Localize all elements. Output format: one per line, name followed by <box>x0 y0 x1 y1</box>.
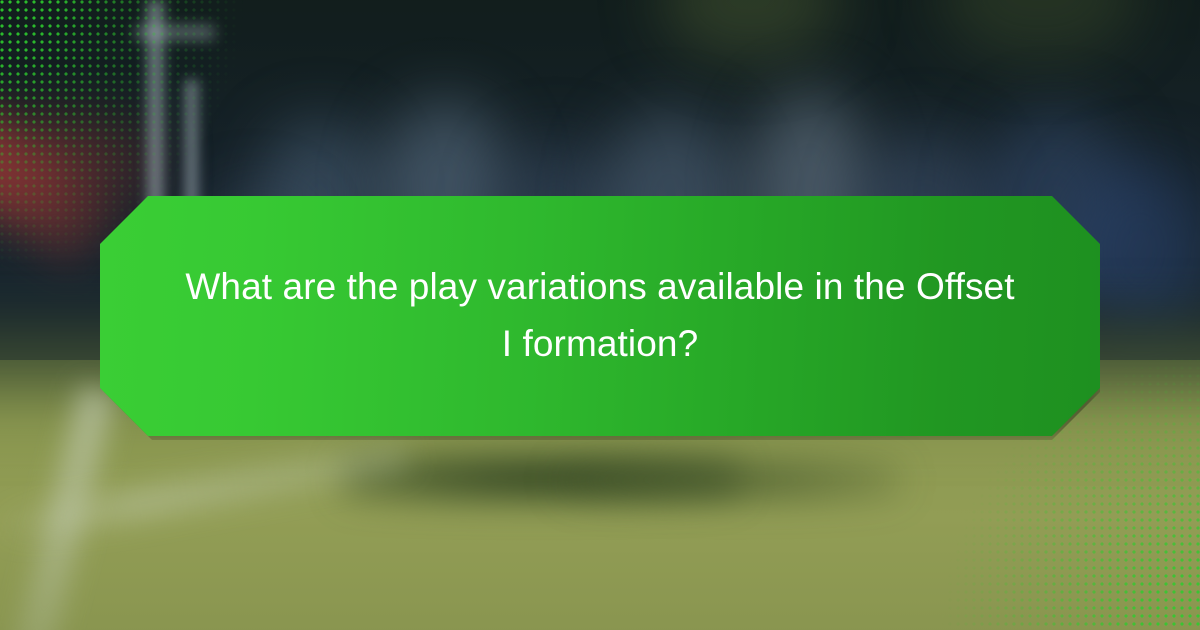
page-title: What are the play variations available i… <box>185 258 1015 375</box>
share-card: What are the play variations available i… <box>0 0 1200 630</box>
question-banner: What are the play variations available i… <box>100 196 1100 436</box>
field-shadow <box>560 460 900 500</box>
goal-post-crossbar <box>136 26 214 39</box>
red-signage-blur <box>0 110 160 220</box>
